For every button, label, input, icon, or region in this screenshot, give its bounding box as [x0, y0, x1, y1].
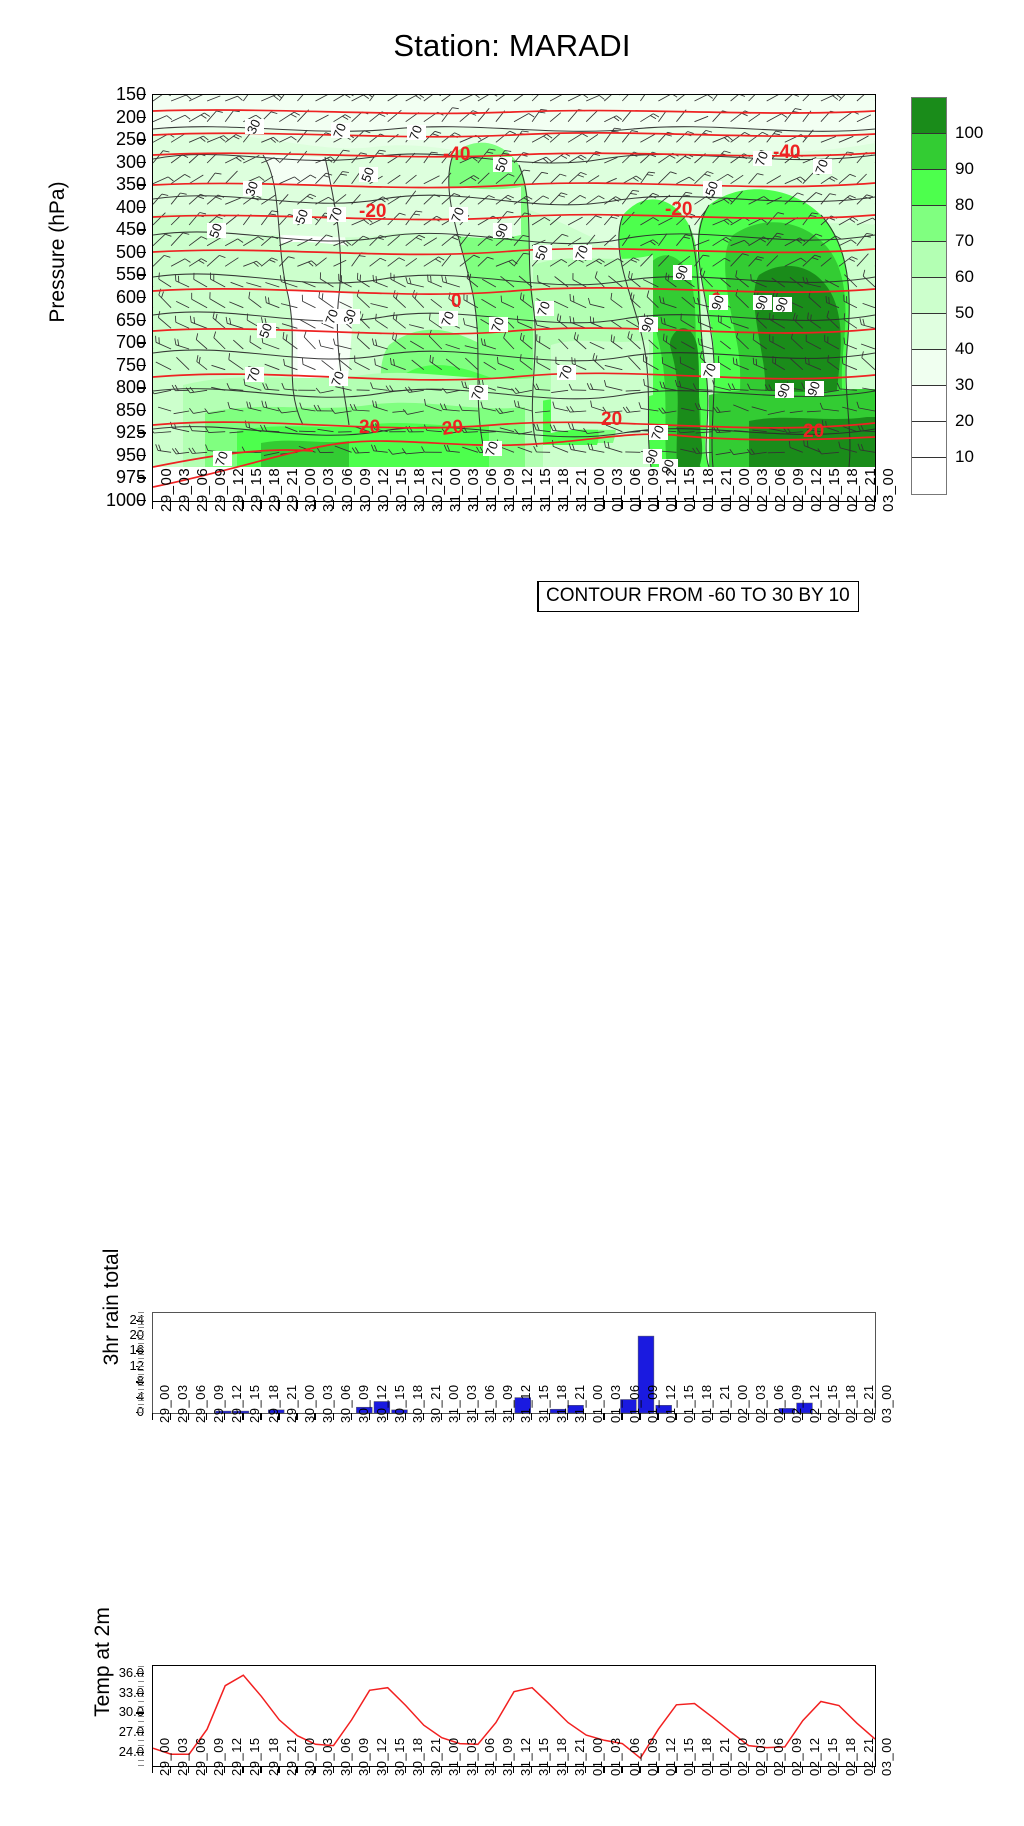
pressure-tick-label: 650 [86, 311, 146, 329]
pressure-tick-label: 400 [86, 198, 146, 216]
temp-minor-tick [138, 1740, 144, 1741]
pressure-tick-label: 350 [86, 175, 146, 193]
colorbar-band [912, 134, 946, 170]
wind-barb-feather [751, 274, 752, 281]
pressure-tick-mark [138, 117, 146, 118]
wind-barb-shaft [299, 431, 316, 432]
pressure-axis-ticks: 1502002503003504004505005506006507007508… [86, 94, 146, 500]
wind-barb-feather [805, 357, 806, 363]
cross-section-panel: Pressure (hPa) 1502002503003504004505005… [0, 0, 1024, 620]
temp-minor-tick [138, 1716, 144, 1717]
time-tick-mark [874, 500, 875, 509]
temp-panel: Temp at 2m 24.027.030.033.036.0 29_0029_… [0, 820, 1024, 1020]
wind-barb-feather [756, 359, 757, 365]
rain-minor-tick [138, 1316, 144, 1317]
time-tick-label: 02_09 [790, 468, 807, 512]
time-tick-mark [296, 1413, 297, 1420]
rain-minor-tick [138, 1362, 144, 1363]
svg-text:20: 20 [359, 417, 380, 438]
time-tick-mark [874, 1766, 875, 1773]
rain-minor-tick [138, 1343, 144, 1344]
time-tick-mark [224, 1766, 225, 1773]
pressure-tick-label: 975 [86, 468, 146, 486]
pressure-tick-label: 925 [86, 423, 146, 441]
pressure-tick-mark [138, 274, 146, 275]
time-tick-mark [224, 1413, 225, 1420]
time-tick-mark [513, 1766, 514, 1773]
time-tick-label: 29_18 [266, 468, 283, 512]
time-tick-label: 01_09 [645, 468, 662, 512]
time-tick-label: 31_03 [465, 468, 482, 512]
time-tick-label: 29_15 [248, 468, 265, 512]
time-axis-rain: 29_0029_0329_0629_0929_1229_1529_1829_21… [152, 1413, 874, 1473]
wind-barb-feather [826, 296, 827, 303]
time-tick-label: 30_18 [411, 468, 428, 512]
wind-barb-feather [159, 273, 160, 280]
humidity-colorbar[interactable] [911, 97, 947, 495]
time-tick-mark [784, 1766, 785, 1773]
svg-text:20: 20 [441, 416, 465, 440]
time-tick-mark [567, 1413, 568, 1420]
colorbar-band [912, 350, 946, 386]
time-tick-mark [242, 1766, 243, 1773]
wind-barb-feather [829, 297, 830, 304]
temp-tick-mark [136, 1752, 144, 1753]
time-axis-temp: 29_0029_0329_0629_0929_1229_1529_1829_21… [152, 1766, 874, 1826]
time-tick-label: 01_18 [700, 468, 717, 512]
time-tick-mark [369, 1413, 370, 1420]
rain-minor-tick [138, 1312, 144, 1313]
time-tick-mark [621, 1766, 622, 1773]
temp-minor-tick [138, 1750, 144, 1751]
pressure-tick-label: 950 [86, 446, 146, 464]
temp-minor-tick [138, 1755, 144, 1756]
time-tick-mark [423, 1766, 424, 1773]
pressure-tick-label: 500 [86, 243, 146, 261]
time-tick-label: 31_21 [573, 468, 590, 512]
time-tick-label: 30_12 [375, 468, 392, 512]
time-tick-mark [712, 1766, 713, 1773]
time-tick-mark [242, 500, 243, 509]
pressure-tick-label: 300 [86, 153, 146, 171]
time-tick-mark [802, 1413, 803, 1420]
temp-minor-tick [138, 1696, 144, 1697]
time-tick-mark [621, 1413, 622, 1420]
wind-barb-feather [517, 316, 518, 323]
pressure-tick-mark [138, 139, 146, 140]
svg-text:20: 20 [601, 409, 622, 430]
rain-minor-tick [138, 1370, 144, 1371]
temp-minor-tick [138, 1681, 144, 1682]
pressure-tick-label: 200 [86, 108, 146, 126]
wind-barb-feather [590, 316, 591, 323]
pressure-tick-mark [138, 500, 146, 501]
time-tick-label: 01_15 [681, 468, 698, 512]
rain-minor-tick [138, 1324, 144, 1325]
time-tick-mark [730, 1413, 731, 1420]
pressure-tick-label: 550 [86, 265, 146, 283]
rain-minor-tick [138, 1358, 144, 1359]
pressure-tick-mark [138, 252, 146, 253]
time-tick-mark [369, 500, 370, 509]
time-tick-mark [314, 1766, 315, 1773]
time-tick-mark [549, 500, 550, 509]
pressure-tick-mark [138, 410, 146, 411]
time-tick-mark [242, 1413, 243, 1420]
pressure-tick-mark [138, 162, 146, 163]
time-tick-mark [387, 500, 388, 509]
temp-minor-tick [138, 1735, 144, 1736]
temp-minor-tick [138, 1721, 144, 1722]
time-tick-mark [585, 1766, 586, 1773]
temp-minor-tick [138, 1706, 144, 1707]
wind-barb-feather [844, 313, 845, 319]
time-tick-mark [351, 500, 352, 509]
pressure-tick-label: 250 [86, 130, 146, 148]
time-tick-mark [784, 1413, 785, 1420]
time-tick-mark [856, 1413, 857, 1420]
colorbar-band [912, 386, 946, 422]
time-tick-mark [296, 500, 297, 509]
time-tick-label: 31_00 [447, 468, 464, 512]
time-tick-mark [423, 500, 424, 509]
time-tick-mark [333, 1766, 334, 1773]
wind-barb-feather [753, 358, 754, 364]
time-tick-mark [260, 1413, 261, 1420]
time-tick-label: 01_00 [591, 468, 608, 512]
time-tick-mark [820, 1766, 821, 1773]
rain-minor-tick [138, 1385, 144, 1386]
time-tick-mark [603, 1766, 604, 1773]
pressure-tick-mark [138, 207, 146, 208]
time-tick-label: 01_06 [627, 468, 644, 512]
colorbar-tick-label: 90 [955, 159, 974, 179]
time-tick-label: 02_18 [844, 468, 861, 512]
colorbar-tick-label: 50 [955, 303, 974, 323]
time-tick-mark [152, 1413, 153, 1420]
svg-text:20: 20 [803, 421, 824, 442]
time-tick-mark [675, 1766, 676, 1773]
colorbar-band [912, 278, 946, 314]
time-tick-label: 30_06 [339, 468, 356, 512]
time-tick-label: 02_03 [754, 468, 771, 512]
rain-minor-tick [138, 1350, 144, 1351]
pressure-tick-mark [138, 477, 146, 478]
time-tick-mark [314, 500, 315, 509]
time-tick-mark [441, 1766, 442, 1773]
time-tick-label: 31_15 [537, 468, 554, 512]
rain-minor-tick [138, 1408, 144, 1409]
time-tick-mark [603, 500, 604, 509]
pressure-tick-label: 750 [86, 356, 146, 374]
time-tick-label: 29_09 [212, 468, 229, 512]
time-tick-mark [531, 1766, 532, 1773]
time-tick-mark [639, 1413, 640, 1420]
time-tick-mark [802, 500, 803, 509]
colorbar-band [912, 422, 946, 458]
temp-minor-tick [138, 1691, 144, 1692]
time-tick-label: 30_15 [393, 468, 410, 512]
time-tick-mark [549, 1766, 550, 1773]
time-tick-mark [459, 500, 460, 509]
time-tick-mark [694, 500, 695, 509]
time-tick-label: 30_03 [320, 468, 337, 512]
pressure-axis-label: Pressure (hPa) [46, 102, 70, 402]
time-tick-mark [423, 1413, 424, 1420]
time-tick-label: 30_09 [357, 468, 374, 512]
time-tick-label: 01_03 [609, 468, 626, 512]
temp-minor-tick [138, 1666, 144, 1667]
time-tick-mark [675, 1413, 676, 1420]
time-tick-label: 01_12 [663, 468, 680, 512]
rain-axis-ticks: 04812162024 [98, 1312, 144, 1412]
colorbar-band [912, 314, 946, 350]
time-tick-mark [585, 1413, 586, 1420]
time-tick-mark [314, 1413, 315, 1420]
time-tick-mark [459, 1413, 460, 1420]
time-tick-mark [206, 1413, 207, 1420]
time-tick-label: 02_00 [736, 468, 753, 512]
time-tick-mark [531, 500, 532, 509]
time-tick-mark [639, 1766, 640, 1773]
colorbar-band [912, 242, 946, 278]
rain-minor-tick [138, 1327, 144, 1328]
colorbar-band [912, 170, 946, 206]
time-tick-mark [296, 1766, 297, 1773]
pressure-tick-label: 600 [86, 288, 146, 306]
time-tick-mark [170, 1413, 171, 1420]
time-tick-mark [224, 500, 225, 509]
time-tick-mark [838, 1766, 839, 1773]
time-tick-mark [278, 1413, 279, 1420]
wind-barb-feather [302, 358, 303, 364]
time-tick-mark [495, 500, 496, 509]
pressure-tick-label: 800 [86, 378, 146, 396]
time-tick-mark [477, 500, 478, 509]
temp-minor-tick [138, 1765, 144, 1766]
time-tick-label: 01_21 [718, 468, 735, 512]
time-tick-mark [657, 1413, 658, 1420]
time-tick-label: 30_00 [302, 468, 319, 512]
wind-barb-feather [575, 358, 576, 365]
pressure-tick-mark [138, 342, 146, 343]
time-tick-label: 29_00 [158, 468, 175, 512]
time-tick-label: 29_06 [194, 468, 211, 512]
time-tick-label: 29_21 [284, 468, 301, 512]
time-tick-label: 03_00 [880, 468, 897, 512]
wind-barb-feather [428, 275, 429, 282]
time-tick-mark [260, 500, 261, 509]
wind-barb-feather [698, 316, 699, 323]
temp-minor-tick [138, 1726, 144, 1727]
temp-minor-tick [138, 1711, 144, 1712]
time-tick-mark [387, 1413, 388, 1420]
wind-barb-feather [572, 357, 573, 364]
colorbar-tick-label: 80 [955, 195, 974, 215]
temp-axis-ticks: 24.027.030.033.036.0 [92, 1665, 144, 1765]
time-tick-label: 02_06 [772, 468, 789, 512]
colorbar-band [912, 206, 946, 242]
time-tick-mark [712, 500, 713, 509]
time-tick-mark [441, 1413, 442, 1420]
time-tick-mark [549, 1413, 550, 1420]
time-tick-mark [495, 1766, 496, 1773]
svg-text:-40: -40 [443, 144, 470, 165]
time-tick-mark [766, 1413, 767, 1420]
time-tick-mark [495, 1413, 496, 1420]
time-tick-label: 03_00 [879, 1384, 894, 1423]
pressure-tick-label: 450 [86, 220, 146, 238]
wind-barb-feather [593, 318, 594, 325]
wind-barb-feather [538, 275, 539, 282]
time-tick-mark [333, 1413, 334, 1420]
time-tick-mark [152, 1766, 153, 1773]
pressure-tick-mark [138, 94, 146, 95]
pressure-tick-label: 150 [86, 85, 146, 103]
time-tick-mark [351, 1766, 352, 1773]
contour-caption: CONTOUR FROM -60 TO 30 BY 10 [537, 581, 859, 612]
wind-barb-feather [809, 358, 810, 365]
time-tick-mark [260, 1766, 261, 1773]
time-tick-mark [748, 1413, 749, 1420]
time-tick-mark [766, 500, 767, 509]
colorbar-tick-label: 100 [955, 123, 983, 143]
time-tick-mark [206, 1766, 207, 1773]
rain-minor-tick [138, 1397, 144, 1398]
temp-minor-tick [138, 1671, 144, 1672]
time-tick-mark [657, 500, 658, 509]
rain-minor-tick [138, 1347, 144, 1348]
time-tick-mark [766, 1766, 767, 1773]
rain-minor-tick [138, 1374, 144, 1375]
rain-panel: 3hr rain total 04812162024 29_0029_0329_… [0, 640, 1024, 810]
svg-text:-20: -20 [665, 199, 692, 220]
time-tick-label: 31_06 [483, 468, 500, 512]
time-tick-mark [567, 1766, 568, 1773]
colorbar-tick-label: 70 [955, 231, 974, 251]
time-tick-mark [206, 500, 207, 509]
time-tick-mark [567, 500, 568, 509]
time-tick-label: 03_00 [879, 1737, 894, 1776]
time-tick-mark [405, 1413, 406, 1420]
svg-text:-20: -20 [359, 201, 386, 222]
time-tick-mark [603, 1413, 604, 1420]
rain-minor-tick [138, 1339, 144, 1340]
rain-minor-tick [138, 1335, 144, 1336]
colorbar-band [912, 98, 946, 134]
temp-minor-tick [138, 1701, 144, 1702]
time-tick-mark [188, 1766, 189, 1773]
time-tick-mark [856, 1766, 857, 1773]
humidity-cross-section-plot[interactable]: -40-40 -20-20 00 2020 2020 30 70 70 30 5… [152, 94, 876, 502]
time-tick-mark [278, 500, 279, 509]
pressure-tick-mark [138, 455, 146, 456]
temp-tick-mark [136, 1693, 144, 1694]
time-tick-mark [802, 1766, 803, 1773]
rain-minor-tick [138, 1354, 144, 1355]
temp-minor-tick [138, 1745, 144, 1746]
time-tick-mark [621, 500, 622, 509]
time-tick-mark [188, 500, 189, 509]
time-tick-mark [784, 500, 785, 509]
pressure-tick-mark [138, 229, 146, 230]
time-tick-mark [712, 1413, 713, 1420]
time-tick-label: 02_21 [862, 468, 879, 512]
time-tick-mark [657, 1766, 658, 1773]
time-tick-mark [459, 1766, 460, 1773]
pressure-tick-mark [138, 432, 146, 433]
rain-minor-tick [138, 1400, 144, 1401]
time-tick-label: 31_09 [501, 468, 518, 512]
wind-barb-feather [431, 276, 432, 283]
wind-barb-feather [501, 296, 502, 302]
time-tick-mark [405, 1766, 406, 1773]
colorbar-tick-label: 60 [955, 267, 974, 287]
pressure-tick-label: 1000 [86, 491, 146, 509]
time-tick-mark [152, 500, 153, 509]
time-tick-mark [351, 1413, 352, 1420]
colorbar-tick-label: 10 [955, 447, 974, 467]
time-tick-mark [748, 500, 749, 509]
time-tick-label: 29_12 [230, 468, 247, 512]
colorbar-tick-label: 40 [955, 339, 974, 359]
time-tick-mark [170, 1766, 171, 1773]
time-tick-mark [170, 500, 171, 509]
time-tick-mark [874, 1413, 875, 1420]
temp-minor-tick [138, 1760, 144, 1761]
rain-minor-tick [138, 1366, 144, 1367]
wind-barb-shaft [768, 452, 785, 453]
rain-minor-tick [138, 1381, 144, 1382]
pressure-tick-label: 850 [86, 401, 146, 419]
time-tick-mark [531, 1413, 532, 1420]
time-tick-label: 02_12 [808, 468, 825, 512]
time-tick-mark [838, 500, 839, 509]
time-tick-mark [730, 1766, 731, 1773]
time-tick-mark [477, 1766, 478, 1773]
rain-minor-tick [138, 1331, 144, 1332]
rain-minor-tick [138, 1320, 144, 1321]
svg-text:0: 0 [451, 291, 462, 312]
time-tick-mark [675, 500, 676, 509]
time-tick-mark [856, 500, 857, 509]
time-tick-mark [188, 1413, 189, 1420]
time-tick-mark [387, 1766, 388, 1773]
rain-minor-tick [138, 1377, 144, 1378]
time-tick-mark [369, 1766, 370, 1773]
svg-text:-40: -40 [773, 142, 800, 163]
time-tick-label: 29_03 [176, 468, 193, 512]
temp-tick-mark [136, 1732, 144, 1733]
rain-minor-tick [138, 1404, 144, 1405]
time-tick-mark [820, 1413, 821, 1420]
pressure-tick-mark [138, 297, 146, 298]
time-tick-mark [748, 1766, 749, 1773]
wind-barb-feather [373, 275, 374, 282]
time-tick-label: 02_15 [826, 468, 843, 512]
colorbar-band [912, 458, 946, 494]
temp-tick-mark [136, 1712, 144, 1713]
time-tick-mark [405, 500, 406, 509]
pressure-tick-mark [138, 387, 146, 388]
pressure-tick-mark [138, 184, 146, 185]
time-tick-mark [441, 500, 442, 509]
temp-minor-tick [138, 1676, 144, 1677]
time-tick-label: 31_18 [555, 468, 572, 512]
pressure-tick-mark [138, 320, 146, 321]
time-tick-mark [838, 1413, 839, 1420]
time-tick-mark [585, 500, 586, 509]
